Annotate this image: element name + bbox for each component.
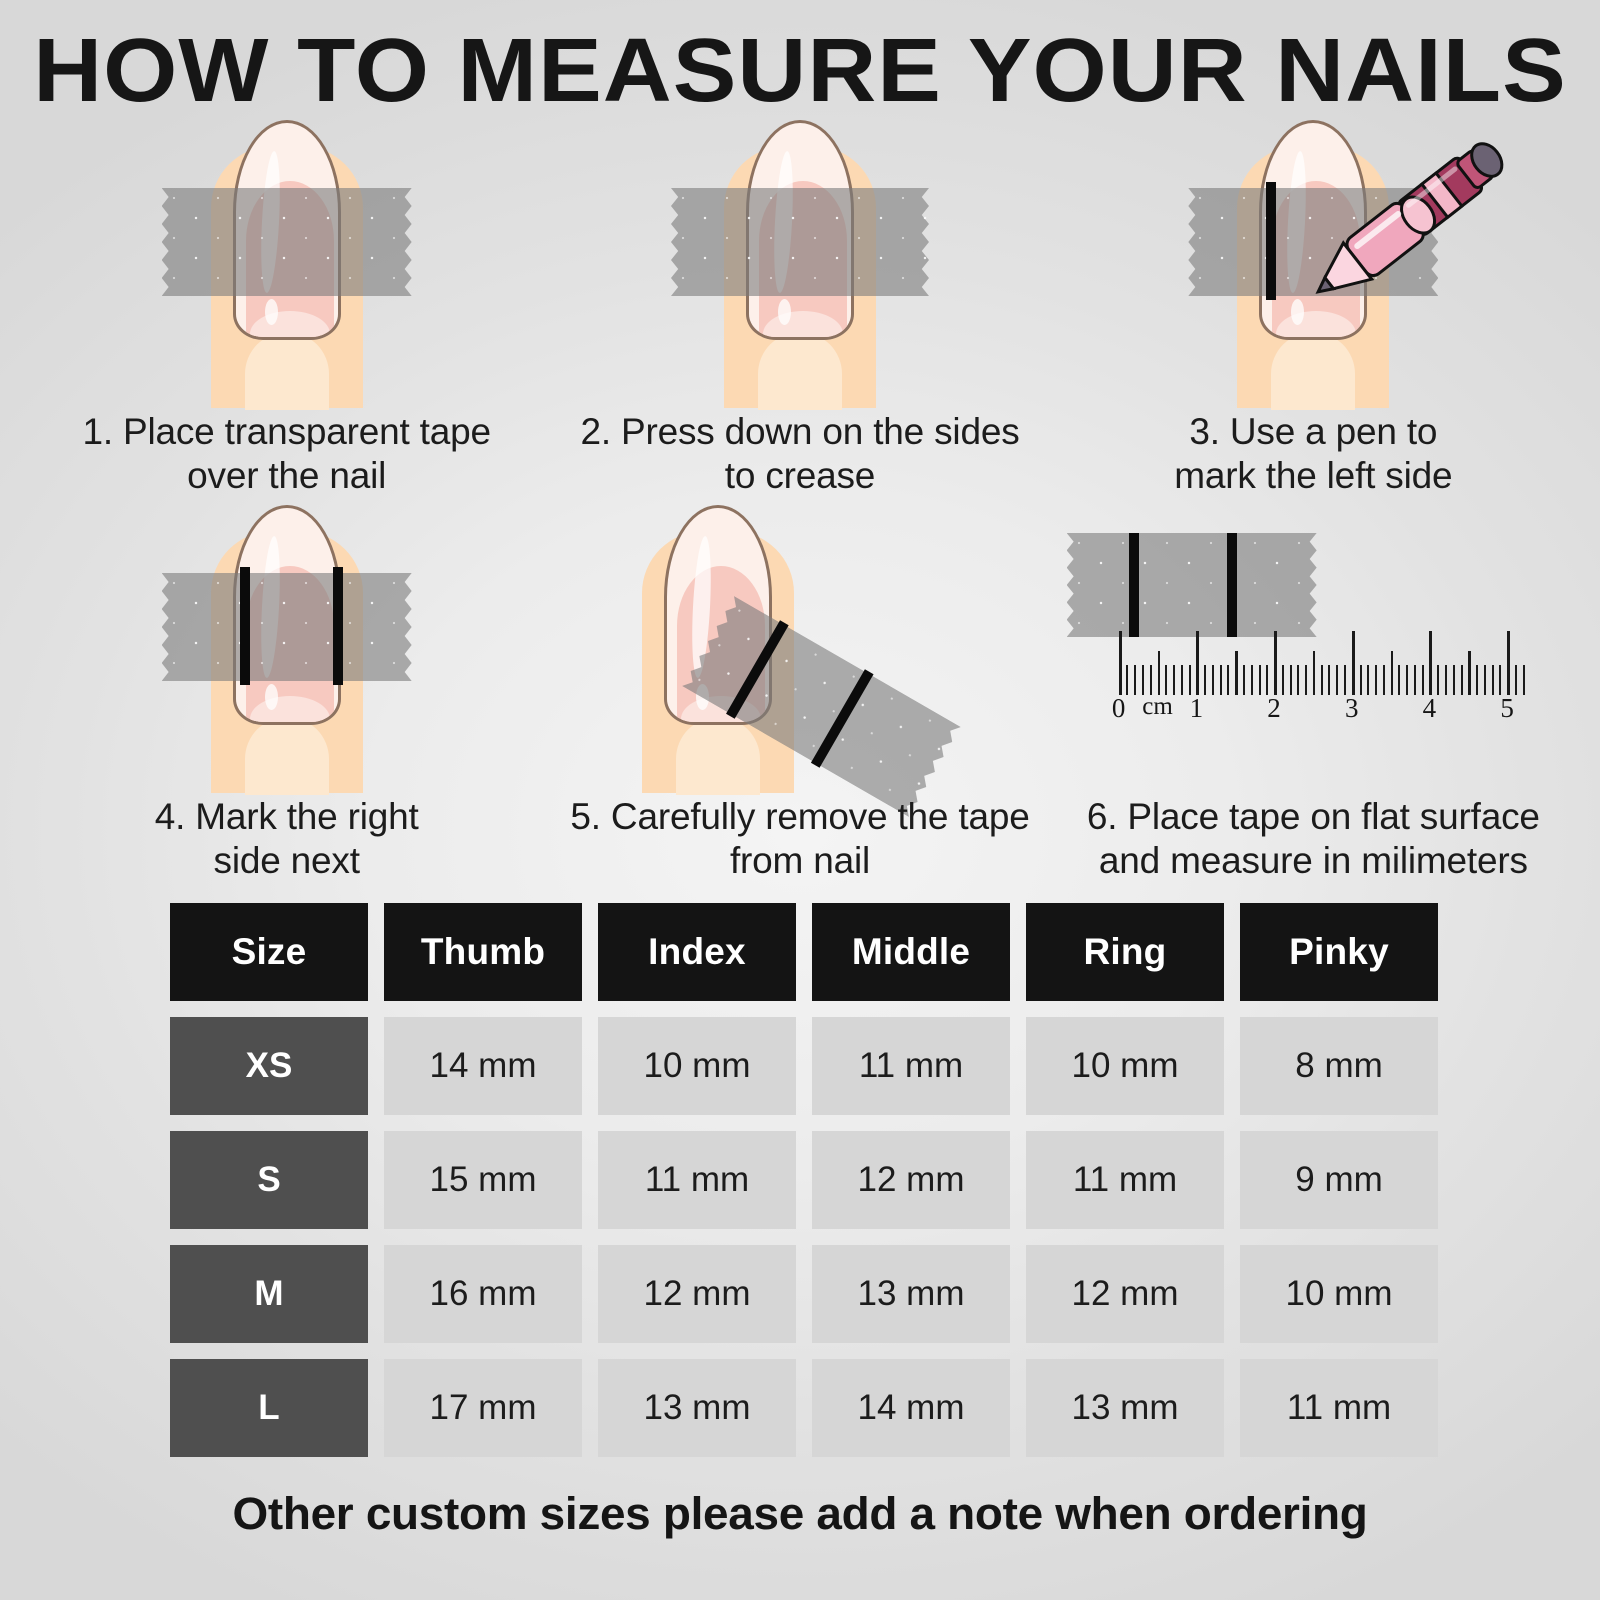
table-cell-xs-pinky: 8 mm [1240, 1017, 1438, 1115]
ruler-tick-mm [1476, 665, 1478, 695]
table-cell-xs-index: 10 mm [598, 1017, 796, 1115]
tape-texture-dots [1067, 533, 1317, 637]
ruler-label-2: 2 [1267, 693, 1281, 724]
right-edge-mark [333, 567, 343, 685]
step-1: 1. Place transparent tape over the nail [30, 120, 543, 505]
ruler-tick-mm [1336, 665, 1338, 695]
ruler-tick-mm [1259, 665, 1261, 695]
table-cell-s-index: 11 mm [598, 1131, 796, 1229]
finger-skin-highlight [676, 717, 760, 795]
ruler-label-5: 5 [1500, 693, 1514, 724]
ruler-tick-mm [1453, 665, 1455, 695]
ruler-tick-mm [1414, 665, 1416, 695]
ruler-tick-mm [1305, 665, 1307, 695]
table-header-thumb: Thumb [384, 903, 582, 1001]
step-2-caption-line1: 2. Press down on the sides [543, 410, 1056, 454]
table-cell-s-ring: 11 mm [1026, 1131, 1224, 1229]
ruler-tick-mm [1383, 665, 1385, 695]
ruler-tick-mm [1142, 665, 1144, 695]
ruler-tick-half [1158, 651, 1161, 695]
ruler-ticks [1119, 629, 1523, 695]
step-3: 3. Use a pen to mark the left side [1057, 120, 1570, 505]
table-cell-m-pinky: 10 mm [1240, 1245, 1438, 1343]
ruler-tick-mm [1422, 665, 1424, 695]
ruler-tick-mm [1398, 665, 1400, 695]
left-edge-mark [1266, 182, 1276, 300]
ruler-tick-major [1119, 631, 1122, 695]
ruler-tick-half [1391, 651, 1394, 695]
nail-gloss-small [778, 299, 791, 325]
table-cell-l-index: 13 mm [598, 1359, 796, 1457]
finger-skin-highlight [1271, 332, 1355, 410]
table-row-size-m: M [170, 1245, 368, 1343]
step-5-caption-line2: from nail [543, 839, 1056, 883]
left-edge-mark [1129, 533, 1139, 637]
step-2-caption-line2: to crease [543, 454, 1056, 498]
tape-strip [162, 573, 412, 681]
ruler-tick-mm [1220, 665, 1222, 695]
ruler-tick-mm [1499, 665, 1501, 695]
table-row-size-l: L [170, 1359, 368, 1457]
step-4-caption-line1: 4. Mark the right [30, 795, 543, 839]
ruler-tick-half [1235, 651, 1238, 695]
step-2: 2. Press down on the sides to crease [543, 120, 1056, 505]
table-row-size-s: S [170, 1131, 368, 1229]
table-cell-xs-middle: 11 mm [812, 1017, 1010, 1115]
ruler-labels: 012345cm [1119, 693, 1523, 729]
table-cell-m-index: 12 mm [598, 1245, 796, 1343]
ruler-tick-mm [1445, 665, 1447, 695]
step-3-caption-line1: 3. Use a pen to [1057, 410, 1570, 454]
nail-gloss-small [265, 684, 278, 710]
table-cell-l-ring: 13 mm [1026, 1359, 1224, 1457]
ruler-label-1: 1 [1190, 693, 1204, 724]
step-5-caption: 5. Carefully remove the tape from nail [543, 795, 1056, 884]
ruler-tick-mm [1492, 665, 1494, 695]
ruler-tick-mm [1375, 665, 1377, 695]
ruler-tick-half [1468, 651, 1471, 695]
table-cell-s-thumb: 15 mm [384, 1131, 582, 1229]
tape-texture-dots [671, 188, 929, 296]
ruler-tick-mm [1189, 665, 1191, 695]
ruler-tick-mm [1134, 665, 1136, 695]
tape-strip [671, 188, 929, 296]
table-cell-l-middle: 14 mm [812, 1359, 1010, 1457]
footer-note: Other custom sizes please add a note whe… [0, 1488, 1600, 1540]
ruler-unit-label: cm [1142, 693, 1173, 721]
table-cell-m-thumb: 16 mm [384, 1245, 582, 1343]
step-5-illustration [543, 505, 1056, 793]
ruler-tick-mm [1204, 665, 1206, 695]
step-4-caption: 4. Mark the right side next [30, 795, 543, 884]
ruler-tick-mm [1367, 665, 1369, 695]
step-2-illustration [543, 120, 1056, 408]
step-3-caption-line2: mark the left side [1057, 454, 1570, 498]
step-6-caption-line1: 6. Place tape on flat surface [1057, 795, 1570, 839]
table-header-index: Index [598, 903, 796, 1001]
step-1-caption-line1: 1. Place transparent tape [30, 410, 543, 454]
table-cell-m-ring: 12 mm [1026, 1245, 1224, 1343]
pen-icon [1289, 108, 1549, 318]
ruler-tick-mm [1360, 665, 1362, 695]
size-chart-table: SizeThumbIndexMiddleRingPinkyXS14 mm10 m… [170, 903, 1438, 1457]
step-6-caption: 6. Place tape on flat surface and measur… [1057, 795, 1570, 884]
step-1-caption: 1. Place transparent tape over the nail [30, 410, 543, 499]
finger-skin-highlight [245, 332, 329, 410]
ruler-tick-mm [1328, 665, 1330, 695]
table-cell-xs-thumb: 14 mm [384, 1017, 582, 1115]
step-6-caption-line2: and measure in milimeters [1057, 839, 1570, 883]
step-4-illustration [30, 505, 543, 793]
step-3-illustration [1057, 120, 1570, 408]
ruler-tick-mm [1297, 665, 1299, 695]
ruler-label-0: 0 [1112, 693, 1126, 724]
ruler-tick-mm [1282, 665, 1284, 695]
ruler-tick-mm [1523, 665, 1525, 695]
finger-skin-highlight [245, 717, 329, 795]
step-6: 012345cm 6. Place tape on flat surface a… [1057, 505, 1570, 890]
ruler-tick-major [1507, 631, 1510, 695]
table-header-size: Size [170, 903, 368, 1001]
ruler-tick-mm [1243, 665, 1245, 695]
finger-skin-highlight [758, 332, 842, 410]
ruler-tick-major [1429, 631, 1432, 695]
ruler-label-3: 3 [1345, 693, 1359, 724]
nail-gloss-small [265, 299, 278, 325]
ruler-tick-mm [1181, 665, 1183, 695]
ruler-tick-major [1274, 631, 1277, 695]
ruler: 012345cm [1119, 629, 1523, 729]
ruler-tick-mm [1321, 665, 1323, 695]
table-cell-s-pinky: 9 mm [1240, 1131, 1438, 1229]
step-3-caption: 3. Use a pen to mark the left side [1057, 410, 1570, 499]
right-edge-mark [1227, 533, 1237, 637]
ruler-tick-mm [1227, 665, 1229, 695]
ruler-tick-mm [1437, 665, 1439, 695]
table-cell-l-thumb: 17 mm [384, 1359, 582, 1457]
table-cell-s-middle: 12 mm [812, 1131, 1010, 1229]
table-cell-l-pinky: 11 mm [1240, 1359, 1438, 1457]
ruler-tick-mm [1251, 665, 1253, 695]
ruler-tick-mm [1344, 665, 1346, 695]
step-1-illustration [30, 120, 543, 408]
step-5-caption-line1: 5. Carefully remove the tape [543, 795, 1056, 839]
ruler-tick-major [1196, 631, 1199, 695]
ruler-tick-mm [1461, 665, 1463, 695]
step-2-caption: 2. Press down on the sides to crease [543, 410, 1056, 499]
infographic-root: HOW TO MEASURE YOUR NAILS [0, 0, 1600, 1600]
ruler-tick-mm [1212, 665, 1214, 695]
ruler-tick-mm [1406, 665, 1408, 695]
ruler-tick-mm [1266, 665, 1268, 695]
step-6-illustration: 012345cm [1057, 505, 1570, 793]
step-4-caption-line2: side next [30, 839, 543, 883]
ruler-tick-half [1313, 651, 1316, 695]
ruler-tick-mm [1515, 665, 1517, 695]
steps-grid: 1. Place transparent tape over the nail [30, 120, 1570, 890]
ruler-tick-mm [1126, 665, 1128, 695]
table-header-pinky: Pinky [1240, 903, 1438, 1001]
ruler-tick-mm [1173, 665, 1175, 695]
table-row-size-xs: XS [170, 1017, 368, 1115]
tape-texture-dots [162, 573, 412, 681]
ruler-tick-mm [1165, 665, 1167, 695]
ruler-tick-mm [1484, 665, 1486, 695]
step-1-caption-line2: over the nail [30, 454, 543, 498]
page-title: HOW TO MEASURE YOUR NAILS [0, 26, 1600, 116]
step-4: 4. Mark the right side next [30, 505, 543, 890]
ruler-tick-mm [1150, 665, 1152, 695]
table-cell-m-middle: 13 mm [812, 1245, 1010, 1343]
tape-texture-dots [162, 188, 412, 296]
ruler-tick-mm [1290, 665, 1292, 695]
table-cell-xs-ring: 10 mm [1026, 1017, 1224, 1115]
ruler-label-4: 4 [1423, 693, 1437, 724]
tape-strip-flat [1067, 533, 1317, 637]
table-header-ring: Ring [1026, 903, 1224, 1001]
tape-strip [162, 188, 412, 296]
ruler-tick-major [1352, 631, 1355, 695]
table-header-middle: Middle [812, 903, 1010, 1001]
left-edge-mark [240, 567, 250, 685]
step-5: 5. Carefully remove the tape from nail [543, 505, 1056, 890]
